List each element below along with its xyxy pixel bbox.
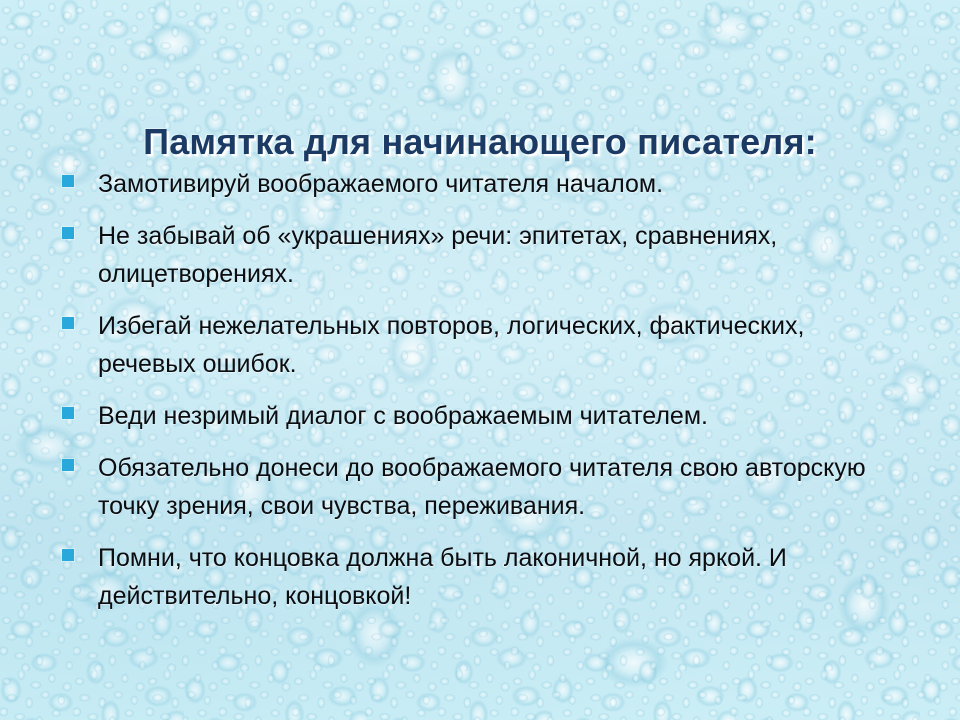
square-bullet-icon: [62, 549, 74, 561]
list-item-text: Замотивируй воображаемого читателя начал…: [98, 165, 882, 203]
square-bullet-icon: [62, 317, 74, 329]
bullet-list: Замотивируй воображаемого читателя начал…: [58, 165, 882, 629]
square-bullet-icon: [62, 407, 74, 419]
slide-content: Памятка для начинающего писателя: Замоти…: [0, 0, 960, 720]
list-item: Веди незримый диалог с воображаемым чита…: [58, 397, 882, 435]
list-item: Обязательно донеси до воображаемого чита…: [58, 449, 882, 525]
square-bullet-icon: [62, 175, 74, 187]
list-item-text: Избегай нежелательных повторов, логическ…: [98, 307, 882, 383]
slide-canvas: Памятка для начинающего писателя: Замоти…: [0, 0, 960, 720]
slide-title: Памятка для начинающего писателя:: [0, 120, 960, 164]
square-bullet-icon: [62, 459, 74, 471]
list-item-text: Веди незримый диалог с воображаемым чита…: [98, 397, 882, 435]
list-item: Замотивируй воображаемого читателя начал…: [58, 165, 882, 203]
list-item: Не забывай об «украшениях» речи: эпитета…: [58, 217, 882, 293]
list-item-text: Помни, что концовка должна быть лаконичн…: [98, 539, 882, 615]
square-bullet-icon: [62, 227, 74, 239]
list-item-text: Обязательно донеси до воображаемого чита…: [98, 449, 882, 525]
list-item: Помни, что концовка должна быть лаконичн…: [58, 539, 882, 615]
list-item-text: Не забывай об «украшениях» речи: эпитета…: [98, 217, 882, 293]
list-item: Избегай нежелательных повторов, логическ…: [58, 307, 882, 383]
